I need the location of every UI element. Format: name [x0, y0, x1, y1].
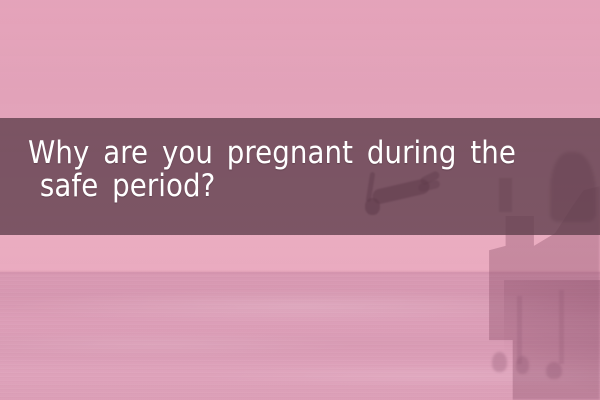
poster-image: Why are you pregnant during thesafe peri…: [0, 0, 600, 400]
sea-reflection-sheen: [0, 272, 600, 400]
sea-horizon-line: [0, 270, 600, 275]
poster-title-line-1: Why are you pregnant during the: [28, 137, 578, 170]
poster-title: Why are you pregnant during thesafe peri…: [28, 137, 578, 203]
title-banner: Why are you pregnant during thesafe peri…: [0, 118, 600, 235]
bather-silhouette: [516, 356, 529, 374]
poster-title-line-2: safe period?: [28, 170, 578, 203]
bather-silhouette: [546, 362, 562, 379]
bather-silhouette: [492, 352, 507, 372]
